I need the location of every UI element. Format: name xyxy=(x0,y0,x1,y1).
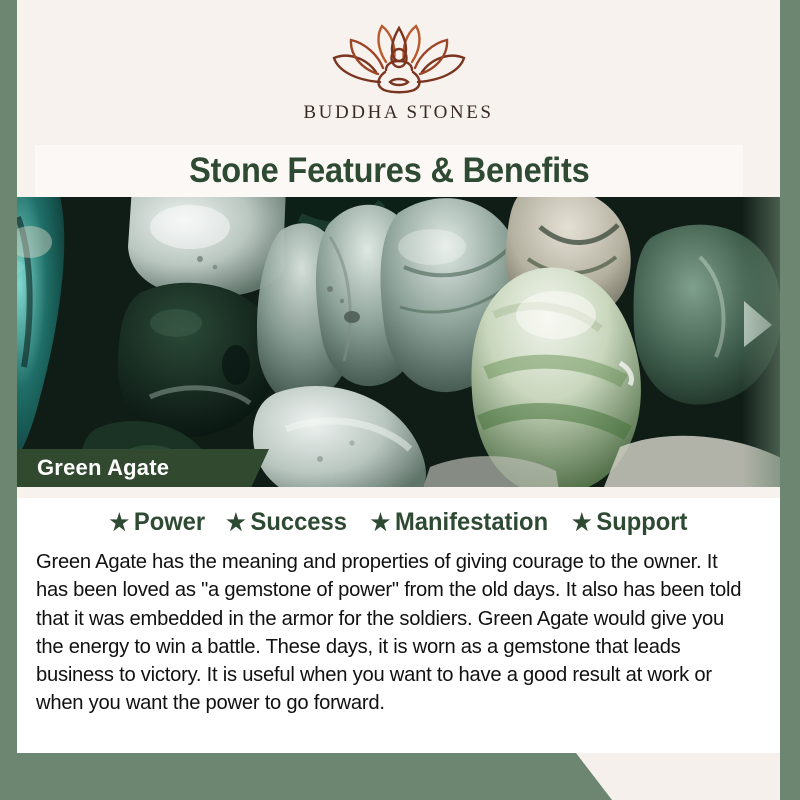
feature-label: Manifestation xyxy=(395,508,548,537)
star-icon: ★ xyxy=(572,511,592,534)
page-title-band: Stone Features & Benefits xyxy=(35,145,743,197)
frame-bottom-accent xyxy=(0,753,800,800)
feature-item-support: ★ Support xyxy=(572,508,687,537)
star-icon: ★ xyxy=(226,511,246,534)
body-top-strip xyxy=(17,487,780,498)
page-title: Stone Features & Benefits xyxy=(189,151,590,191)
stone-info-card: BUDDHA STONES Stone Features & Benefits xyxy=(0,0,800,800)
card-header: BUDDHA STONES Stone Features & Benefits xyxy=(17,0,780,197)
stone-name-label: Green Agate xyxy=(17,455,169,481)
body-panel: ★ Power ★ Success ★ Manifestation ★ Supp… xyxy=(17,487,780,753)
feature-label: Success xyxy=(251,508,347,537)
features-row: ★ Power ★ Success ★ Manifestation ★ Supp… xyxy=(17,508,780,537)
star-icon: ★ xyxy=(109,511,129,534)
stone-description: Green Agate has the meaning and properti… xyxy=(36,548,749,718)
feature-label: Power xyxy=(133,508,204,537)
feature-item-success: ★ Success xyxy=(226,508,347,537)
stone-name-banner: Green Agate xyxy=(17,449,269,487)
star-icon: ★ xyxy=(371,511,391,534)
feature-item-power: ★ Power xyxy=(109,508,205,537)
feature-label: Support xyxy=(596,508,687,537)
lotus-meditation-icon xyxy=(324,22,474,100)
stone-photo xyxy=(0,197,800,487)
brand-name: BUDDHA STONES xyxy=(303,102,493,124)
feature-item-manifestation: ★ Manifestation xyxy=(371,508,548,537)
